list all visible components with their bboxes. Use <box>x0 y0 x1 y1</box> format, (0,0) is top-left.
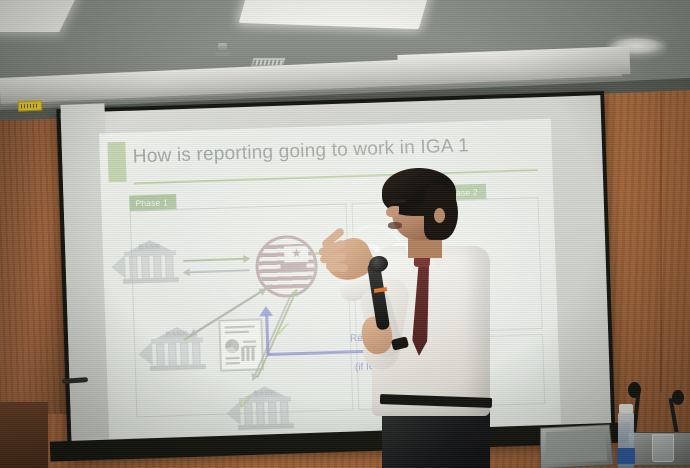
chair <box>0 402 48 468</box>
checkmark-icon-3: ✓ <box>235 392 256 416</box>
warning-tag <box>18 100 42 111</box>
report-document-icon <box>218 318 264 371</box>
bank-icon-2: BANK <box>148 326 207 374</box>
presentation-photo: screen How is reporting going to work in… <box>0 0 690 468</box>
sprinkler-icon <box>218 43 227 56</box>
presenter <box>330 170 530 468</box>
title-accent-block <box>107 142 126 183</box>
slide-title: How is reporting going to work in IGA 1 <box>132 133 533 168</box>
phase-1-zone <box>130 203 354 417</box>
laptop-1[interactable] <box>540 424 614 468</box>
bank-icon-1: BANK <box>121 239 180 287</box>
checkmark-icon-1: ✓ <box>273 319 294 343</box>
drinking-glass[interactable] <box>652 434 674 462</box>
wall-seam-secondary <box>660 92 662 392</box>
